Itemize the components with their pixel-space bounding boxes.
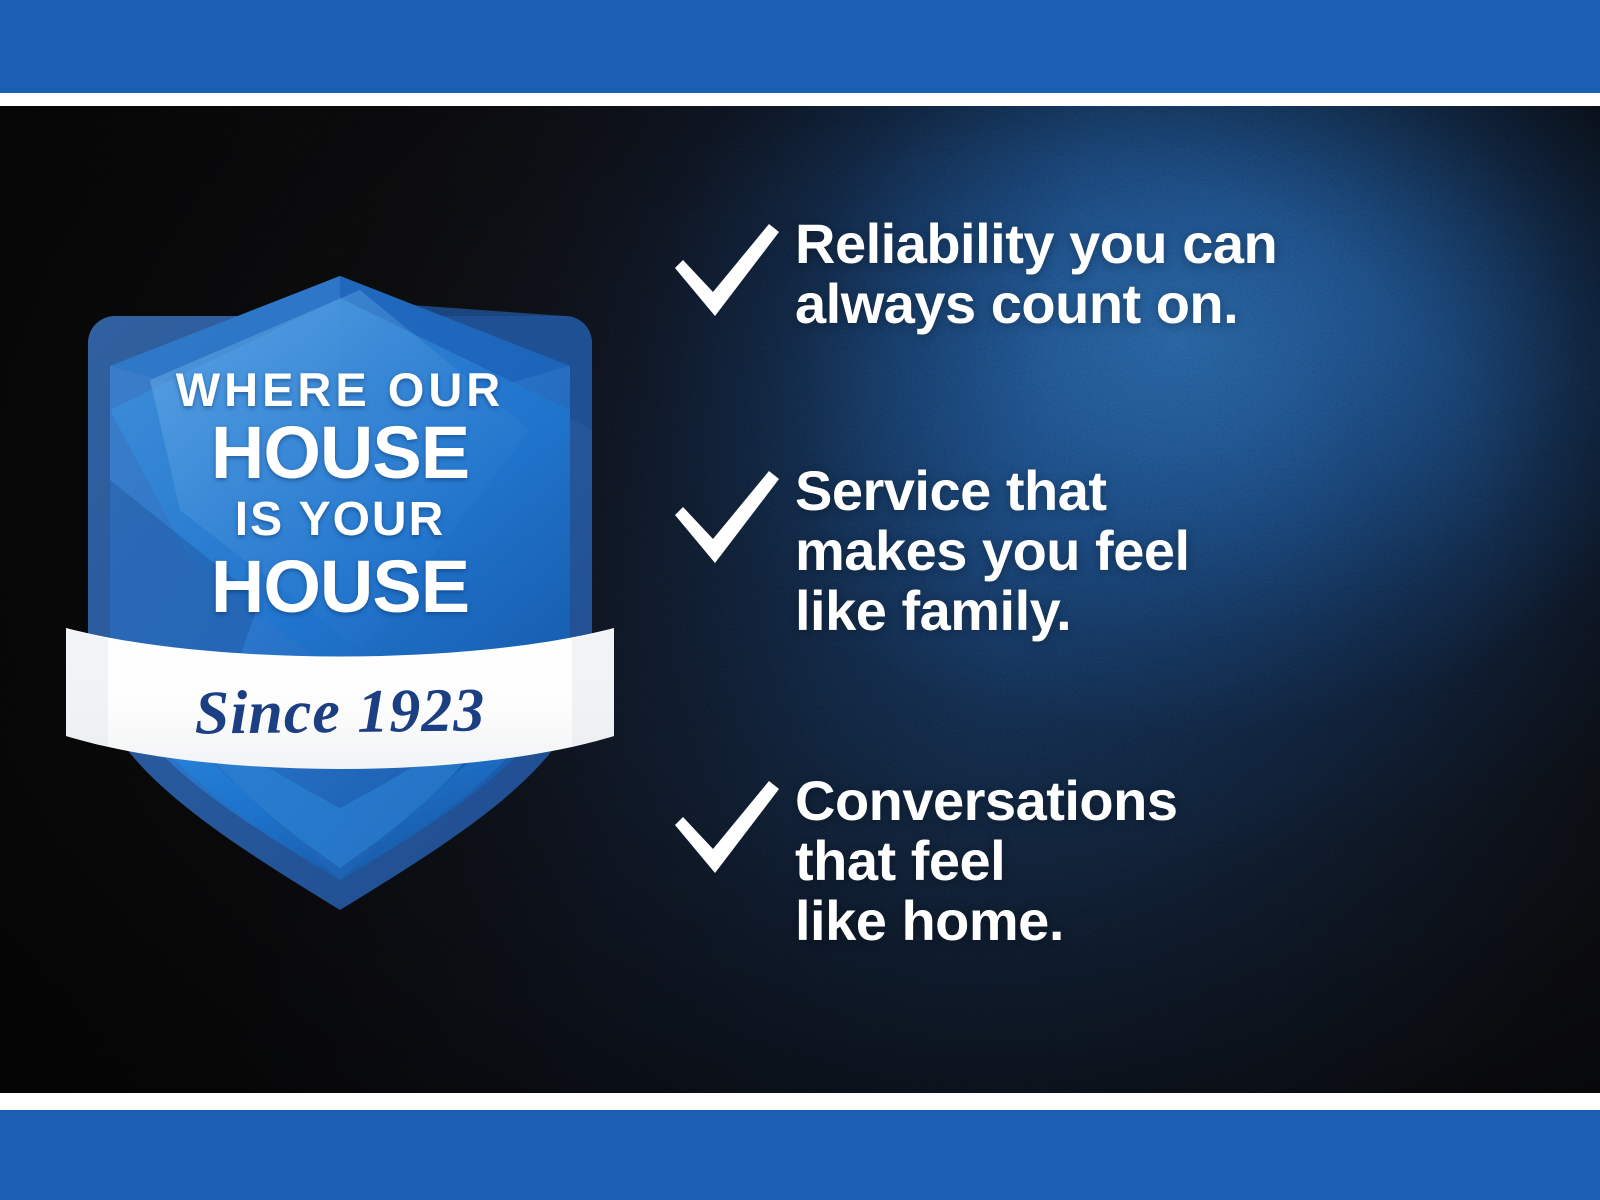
- check-icon: [665, 461, 795, 577]
- benefit-line-1: Reliability you can: [795, 214, 1277, 274]
- promo-banner: WHERE OUR HOUSE IS YOUR HOUSE Since 1923…: [0, 0, 1600, 1200]
- benefit-line-1: Service that: [795, 461, 1190, 521]
- top-brand-bar: [0, 0, 1600, 93]
- benefit-text-service: Service that makes you feel like family.: [795, 461, 1190, 641]
- benefit-line-3: like family.: [795, 581, 1190, 641]
- benefit-line-2: makes you feel: [795, 521, 1190, 581]
- benefit-item-service: Service that makes you feel like family.: [665, 461, 1190, 641]
- benefit-line-2: always count on.: [795, 274, 1277, 334]
- check-icon: [665, 214, 795, 330]
- benefit-item-conversations: Conversations that feel like home.: [665, 771, 1178, 951]
- benefits-list: Reliability you can always count on. Ser…: [665, 106, 1565, 1093]
- benefit-text-conversations: Conversations that feel like home.: [795, 771, 1178, 951]
- benefit-item-reliability: Reliability you can always count on.: [665, 214, 1277, 334]
- benefit-line-3: like home.: [795, 891, 1178, 951]
- top-divider-rule: [0, 93, 1600, 106]
- bottom-divider-rule: [0, 1093, 1600, 1110]
- benefit-text-reliability: Reliability you can always count on.: [795, 214, 1277, 334]
- benefit-line-1: Conversations: [795, 771, 1178, 831]
- shield-ribbon-left-fold: [66, 628, 108, 746]
- check-icon: [665, 771, 795, 887]
- shield-ribbon-right-fold: [572, 628, 614, 746]
- benefit-line-2: that feel: [795, 831, 1178, 891]
- bottom-brand-bar: [0, 1110, 1600, 1200]
- company-shield-logo: [60, 180, 620, 840]
